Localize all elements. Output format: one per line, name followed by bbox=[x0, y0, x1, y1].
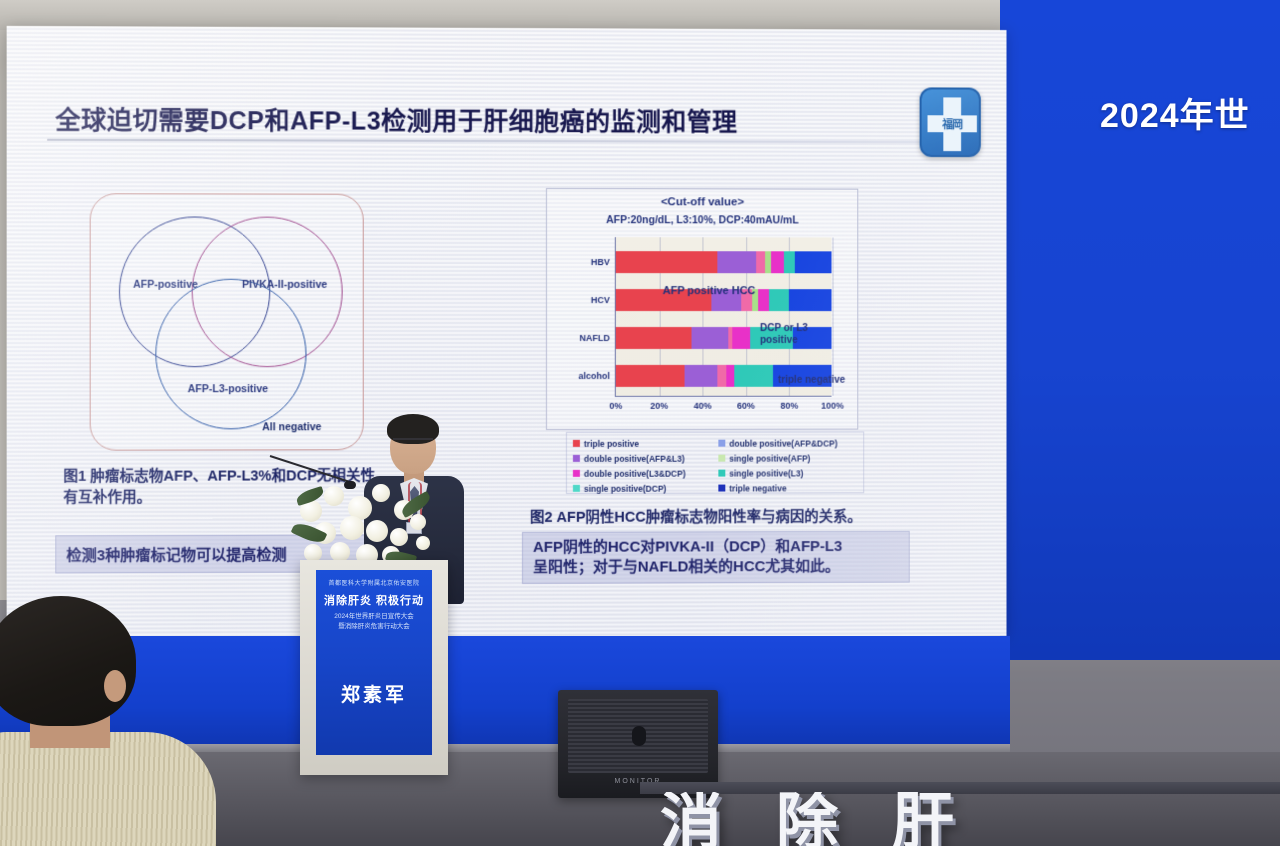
legend-label: double positive(L3&DCP) bbox=[584, 468, 686, 478]
flower-bloom bbox=[416, 536, 430, 550]
chart-bar-segment bbox=[717, 251, 756, 273]
audience-member-foreground bbox=[0, 596, 216, 846]
legend-swatch-icon bbox=[573, 440, 580, 447]
legend-item: single positive(AFP) bbox=[718, 450, 857, 465]
foreground-letter: 消 bbox=[660, 792, 730, 846]
chart-bar-segment bbox=[616, 327, 692, 349]
chart-bar-segment bbox=[756, 251, 765, 273]
venn-label-all-negative: All negative bbox=[262, 421, 321, 433]
foreground-letter: 除 bbox=[776, 792, 846, 846]
chart-bar-segment bbox=[726, 365, 735, 387]
audience-striped-shirt bbox=[0, 732, 216, 846]
chart-ytick-label: NAFLD bbox=[550, 327, 610, 349]
flower-bloom bbox=[366, 520, 388, 542]
audience-ear bbox=[104, 670, 126, 702]
legend-item: triple negative bbox=[718, 480, 857, 495]
projection-screen: 全球迫切需要DCP和AFP-L3检测用于肝细胞癌的监测和管理 福岡 AFP-po… bbox=[7, 26, 1007, 640]
chart-cutoff-title: <Cut-off value> bbox=[547, 196, 857, 209]
chart-ytick-label: alcohol bbox=[550, 365, 610, 387]
podium-slogan: 消除肝炎 积极行动 bbox=[316, 592, 432, 608]
legend-swatch-icon bbox=[718, 470, 725, 477]
legend-label: double positive(AFP&DCP) bbox=[729, 438, 837, 448]
chart-bar-segment bbox=[616, 251, 718, 273]
flower-bloom bbox=[410, 514, 426, 530]
legend-swatch-icon bbox=[573, 470, 580, 477]
chart-bar-segment bbox=[784, 251, 795, 273]
chart-xtick-label: 0% bbox=[609, 401, 622, 411]
legend-swatch-icon bbox=[573, 455, 580, 462]
legend-label: single positive(AFP) bbox=[729, 453, 810, 463]
chart-gridline bbox=[833, 237, 834, 395]
chart-bar-segment bbox=[685, 365, 717, 387]
chart-annotation-dcp-or-l3: DCP or L3 positive bbox=[760, 323, 808, 346]
title-divider bbox=[47, 139, 977, 143]
chart-bar-segment bbox=[616, 365, 685, 387]
podium-speaker-name: 郑素军 bbox=[316, 680, 432, 707]
figure1-note-text: 检测3种肿瘤标记物可以提高检测 bbox=[66, 543, 286, 565]
chart-bar-segment bbox=[795, 251, 832, 273]
chart-xtick-label: 20% bbox=[650, 401, 668, 411]
chart-xtick-label: 60% bbox=[737, 401, 755, 411]
chart-bar-segment bbox=[758, 289, 769, 311]
backdrop-title-text: 2024年世 bbox=[1100, 88, 1280, 137]
audience-head bbox=[0, 596, 136, 726]
podium: 首都医科大学附属北京佑安医院 消除肝炎 积极行动 2024年世界肝炎日宣传大会 … bbox=[300, 560, 448, 775]
legend-swatch-icon bbox=[718, 455, 725, 462]
chart-xtick-label: 100% bbox=[821, 401, 844, 411]
figure2-note-line2: 呈阳性；对于与NAFLD相关的HCC尤其如此。 bbox=[533, 557, 899, 578]
chart-legend: triple positivedouble positive(AFP&DCP)d… bbox=[566, 432, 864, 494]
podium-subtitle-line2: 暨消除肝炎危害行动大会 bbox=[316, 622, 432, 632]
flower-bloom bbox=[372, 484, 390, 502]
chart-bar-segment bbox=[771, 251, 784, 273]
chart-bar-segment bbox=[691, 327, 728, 349]
chart-bar-segment bbox=[735, 365, 774, 387]
chart-bar-segment bbox=[717, 365, 726, 387]
chart-xtick-label: 40% bbox=[694, 401, 712, 411]
legend-item: double positive(L3&DCP) bbox=[573, 466, 712, 481]
speaker-glasses bbox=[393, 438, 433, 446]
dcp-line1: DCP or L3 bbox=[760, 323, 808, 334]
podium-subtitle: 2024年世界肝炎日宣传大会 暨消除肝炎危害行动大会 bbox=[316, 612, 432, 632]
podium-logo-text: 首都医科大学附属北京佑安医院 bbox=[316, 578, 432, 587]
legend-label: triple negative bbox=[729, 483, 786, 493]
chart-bar-segment bbox=[732, 327, 749, 349]
dcp-line2: positive bbox=[760, 334, 798, 345]
flower-bloom bbox=[324, 486, 344, 506]
podium-subtitle-line1: 2024年世界肝炎日宣传大会 bbox=[316, 612, 432, 622]
chart-plot-area: 0%20%40%60%80%100%HBVHCVNAFLDalcohol bbox=[615, 237, 832, 397]
legend-swatch-icon bbox=[718, 485, 725, 492]
legend-label: single positive(L3) bbox=[729, 468, 803, 478]
chart-bar-segment bbox=[788, 289, 831, 311]
flower-bloom bbox=[330, 542, 350, 562]
institution-seal-icon: 福岡 bbox=[920, 87, 981, 157]
legend-item: double positive(AFP&DCP) bbox=[718, 436, 857, 451]
legend-swatch-icon bbox=[573, 485, 580, 492]
flower-bloom bbox=[390, 528, 408, 546]
chart-xtick-label: 80% bbox=[780, 401, 798, 411]
legend-swatch-icon bbox=[718, 440, 725, 447]
chart-ytick-label: HCV bbox=[550, 289, 610, 311]
chart-annotation-afp-positive: AFP positive HCC bbox=[663, 285, 756, 297]
legend-label: single positive(DCP) bbox=[584, 483, 666, 493]
legend-label: double positive(AFP&L3) bbox=[584, 453, 685, 463]
bar-chart: <Cut-off value> AFP:20ng/dL, L3:10%, DCP… bbox=[546, 188, 858, 430]
figure2-note-line1: AFP阴性的HCC对PIVKA-II（DCP）和AFP-L3 bbox=[533, 537, 899, 558]
legend-item: single positive(L3) bbox=[718, 465, 857, 480]
slide-title: 全球迫切需要DCP和AFP-L3检测用于肝细胞癌的监测和管理 bbox=[55, 101, 737, 139]
legend-label: triple positive bbox=[584, 438, 639, 448]
chart-bar-segment bbox=[769, 289, 788, 311]
legend-item: single positive(DCP) bbox=[573, 481, 712, 496]
foreground-signage-letters: 消除肝 bbox=[660, 792, 1280, 846]
chart-annotation-triple-negative: triple negative bbox=[778, 375, 845, 386]
flower-bloom bbox=[340, 516, 364, 540]
legend-item: triple positive bbox=[573, 436, 712, 451]
venn-label-afp: AFP-positive bbox=[133, 279, 198, 291]
conference-photo-scene: 2024年世 全球迫切需要DCP和AFP-L3检测用于肝细胞癌的监测和管理 福岡… bbox=[0, 0, 1280, 846]
monitor-knob bbox=[632, 726, 646, 746]
venn-label-afp-l3: AFP-L3-positive bbox=[188, 383, 269, 395]
venn-circle-afp-l3 bbox=[155, 279, 306, 430]
venn-label-pivka: PIVKA-II-positive bbox=[242, 279, 327, 291]
legend-item: double positive(AFP&L3) bbox=[573, 451, 712, 466]
chart-cutoff-values: AFP:20ng/dL, L3:10%, DCP:40mAU/mL bbox=[547, 214, 857, 226]
podium-signage: 首都医科大学附属北京佑安医院 消除肝炎 积极行动 2024年世界肝炎日宣传大会 … bbox=[316, 570, 432, 755]
chart-bar-row: HBV bbox=[616, 251, 832, 273]
foreground-letter: 肝 bbox=[892, 792, 962, 846]
figure2-note-box: AFP阴性的HCC对PIVKA-II（DCP）和AFP-L3 呈阳性；对于与NA… bbox=[522, 531, 910, 584]
venn-diagram: AFP-positive PIVKA-II-positive AFP-L3-po… bbox=[90, 193, 364, 450]
chart-ytick-label: HBV bbox=[550, 251, 610, 273]
figure2-caption: 图2 AFP阴性HCC肿瘤标志物阳性率与病因的关系。 bbox=[530, 505, 928, 527]
seal-label: 福岡 bbox=[922, 89, 981, 157]
